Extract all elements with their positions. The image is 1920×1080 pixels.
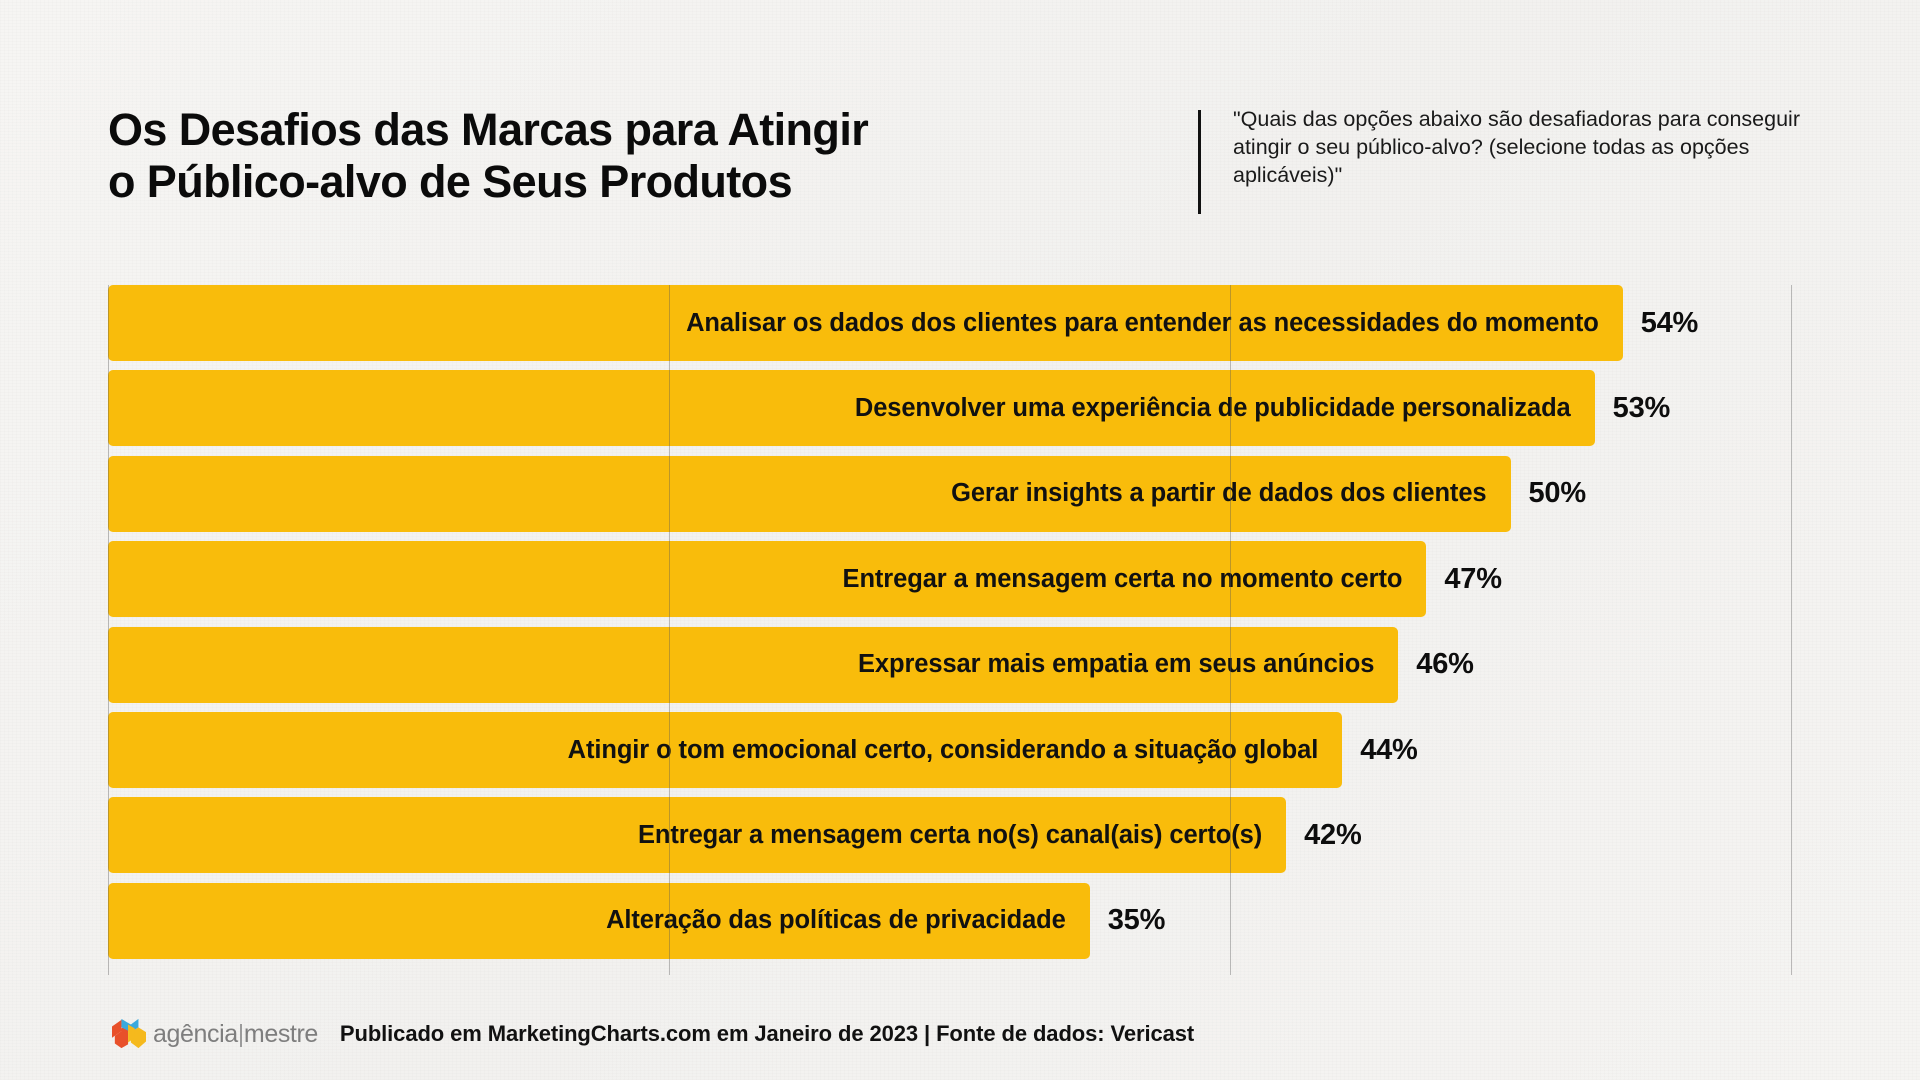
title-line-2: o Público-alvo de Seus Produtos <box>108 156 1178 208</box>
page-title: Os Desafios das Marcas para Atingir o Pú… <box>108 104 1178 208</box>
bar-row[interactable]: Desenvolver uma experiência de publicida… <box>108 370 1793 446</box>
logo-wordmark: agência|mestre <box>153 1020 318 1049</box>
bar-value-label: 44% <box>1360 712 1417 788</box>
header: Os Desafios das Marcas para Atingir o Pú… <box>108 104 1820 229</box>
bar-row[interactable]: Atingir o tom emocional certo, considera… <box>108 712 1793 788</box>
bar-category-label: Entregar a mensagem certa no momento cer… <box>843 565 1403 594</box>
bar-value-label: 35% <box>1108 883 1165 959</box>
bar-category-label: Analisar os dados dos clientes para ente… <box>686 309 1599 338</box>
bar-category-label: Entregar a mensagem certa no(s) canal(ai… <box>638 821 1262 850</box>
bar-row[interactable]: Gerar insights a partir de dados dos cli… <box>108 456 1793 532</box>
title-line-1: Os Desafios das Marcas para Atingir <box>108 104 1178 156</box>
bar-category-label: Gerar insights a partir de dados dos cli… <box>951 479 1486 508</box>
header-divider <box>1198 110 1201 214</box>
bar[interactable]: Entregar a mensagem certa no(s) canal(ai… <box>108 797 1286 873</box>
footer: agência|mestre Publicado em MarketingCha… <box>110 1012 1194 1056</box>
bar-value-label: 54% <box>1641 285 1698 361</box>
bar-row[interactable]: Analisar os dados dos clientes para ente… <box>108 285 1793 361</box>
bar-value-label: 47% <box>1444 541 1501 617</box>
bar-series: Analisar os dados dos clientes para ente… <box>108 285 1793 975</box>
logo-word-agencia: agência <box>153 1020 238 1048</box>
bar-category-label: Atingir o tom emocional certo, considera… <box>568 736 1319 765</box>
bar-row[interactable]: Expressar mais empatia em seus anúncios4… <box>108 627 1793 703</box>
agencia-mestre-logo-icon <box>110 1017 148 1051</box>
bar-value-label: 46% <box>1416 627 1473 703</box>
bar[interactable]: Atingir o tom emocional certo, considera… <box>108 712 1342 788</box>
chart-subtitle: "Quais das opções abaixo são desafiadora… <box>1233 104 1803 190</box>
bar-value-label: 53% <box>1613 370 1670 446</box>
bar[interactable]: Entregar a mensagem certa no momento cer… <box>108 541 1426 617</box>
bar-chart: Analisar os dados dos clientes para ente… <box>108 285 1793 975</box>
bar[interactable]: Expressar mais empatia em seus anúncios <box>108 627 1398 703</box>
bar-row[interactable]: Entregar a mensagem certa no(s) canal(ai… <box>108 797 1793 873</box>
bar-value-label: 50% <box>1529 456 1586 532</box>
bar-category-label: Alteração das políticas de privacidade <box>606 906 1066 935</box>
bar[interactable]: Alteração das políticas de privacidade <box>108 883 1090 959</box>
bar-row[interactable]: Alteração das políticas de privacidade35… <box>108 883 1793 959</box>
bar-category-label: Desenvolver uma experiência de publicida… <box>855 394 1571 423</box>
bar-row[interactable]: Entregar a mensagem certa no momento cer… <box>108 541 1793 617</box>
bar[interactable]: Desenvolver uma experiência de publicida… <box>108 370 1595 446</box>
logo-word-mestre: mestre <box>244 1020 318 1048</box>
bar[interactable]: Analisar os dados dos clientes para ente… <box>108 285 1623 361</box>
infographic-poster: Os Desafios das Marcas para Atingir o Pú… <box>0 0 1920 1080</box>
bar-category-label: Expressar mais empatia em seus anúncios <box>858 650 1374 679</box>
bar[interactable]: Gerar insights a partir de dados dos cli… <box>108 456 1511 532</box>
bar-value-label: 42% <box>1304 797 1361 873</box>
source-credit: Publicado em MarketingCharts.com em Jane… <box>340 1021 1194 1047</box>
